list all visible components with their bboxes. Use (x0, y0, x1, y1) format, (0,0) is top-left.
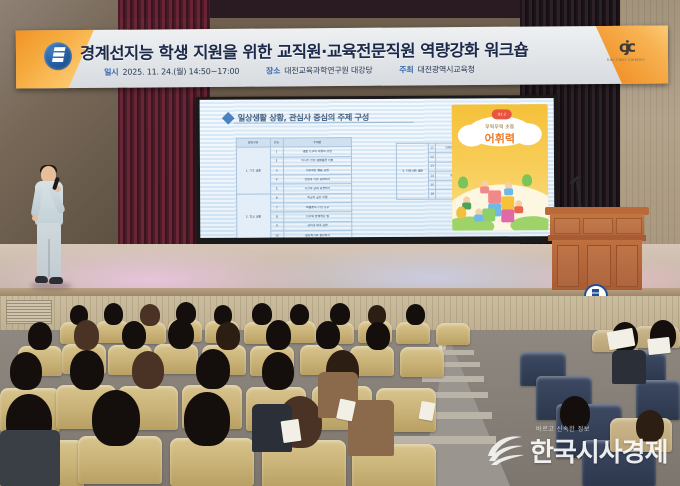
table-cell: 1 (270, 147, 283, 156)
photo-scene: 경계선지능 학생 지원을 위한 교직원·교육전문직원 역량강화 워크숍 일시20… (0, 0, 680, 486)
sponsor-logo-caption: Edu Class Creators (604, 58, 648, 62)
audience-seat (400, 347, 444, 377)
audience-head (104, 303, 123, 325)
audience-attendee-coat (0, 430, 60, 486)
audience-head (132, 351, 164, 389)
audience-head (28, 322, 52, 350)
audience-head (184, 392, 230, 446)
audience-head (168, 319, 194, 349)
watermark-name: 한국시사경제 (530, 432, 668, 469)
slide-table-header: 주제명 (283, 138, 351, 148)
table-cell: 6 (270, 194, 283, 203)
handout-paper (281, 419, 302, 443)
book-block (501, 196, 514, 209)
table-cell: 발표하기와 질문하기 (283, 231, 351, 238)
banner-date-value: 2025. 11. 24.(월) 14:50~17:00 (122, 67, 239, 77)
table-cell: 7 (270, 203, 283, 212)
sponsor-logo-mark: cjc (604, 38, 648, 56)
audience-head (10, 352, 42, 390)
table-cell: 학용품과 수업 도구 (283, 203, 351, 213)
daejeon-education-office-emblem-icon (44, 42, 72, 70)
table-cell: 13 (429, 162, 436, 171)
slide-table-header: 번호 (270, 138, 283, 147)
table-cell: 2 (270, 157, 283, 166)
book-block (501, 209, 514, 222)
book-cover-image: 초1·2 무럭무럭 초등 어휘력 (452, 104, 549, 231)
watermark: 바르고 신속한 정보 한국시사경제 (486, 424, 676, 472)
table-group-cell: 2. 학교 생활 (237, 194, 271, 238)
table-cell: 8 (270, 212, 283, 221)
table-cell: 기본적인 행동 표현 (283, 166, 351, 176)
banner-title: 경계선지능 학생 지원을 위한 교직원·교육전문직원 역량강화 워크숍 (80, 36, 600, 64)
wave-swirl-logo-icon (486, 432, 526, 466)
audience-head (262, 352, 294, 390)
slide-title-underline (234, 122, 414, 124)
book-tree (456, 207, 466, 219)
audience-head (92, 390, 140, 446)
audience-head (252, 303, 272, 325)
table-cell: 15 (429, 180, 436, 189)
book-badge: 초1·2 (492, 109, 512, 119)
banner-place-label: 장소 (266, 66, 280, 75)
book-title: 어휘력 (452, 130, 548, 147)
audience-head (406, 304, 425, 325)
table-cell: 14 (429, 171, 436, 180)
sponsor-logo: cjc Edu Class Creators (604, 38, 648, 62)
presenter-hand-left (32, 215, 38, 221)
table-group-cell: 3. 지역사회 생활 (396, 143, 428, 199)
book-child-figure (514, 200, 523, 213)
banner-host-value: 대전광역시교육청 (417, 65, 474, 74)
book-tree (458, 177, 468, 189)
handout-paper (647, 337, 671, 355)
presenter-legs (37, 223, 61, 277)
book-child-figure (474, 208, 483, 221)
audience-seat (396, 322, 430, 344)
table-cell: 학교의 공간 이름 (283, 193, 351, 203)
table-cell: 12 (429, 152, 436, 161)
wall-vent (6, 300, 52, 324)
presenter (32, 166, 66, 291)
table-group-cell: 1. 기초 생활 (236, 147, 270, 194)
presenter-shoe-left (35, 276, 48, 283)
table-cell: 11 (428, 143, 435, 152)
presenter-shoe-right (49, 277, 63, 284)
book-tree (522, 174, 532, 186)
audience-head (74, 320, 99, 350)
podium-upper (550, 214, 644, 236)
audience-attendee-coat (612, 350, 646, 384)
table-cell: 4 (270, 175, 283, 184)
table-cell: 규칙과 약속 표현 (283, 221, 351, 231)
banner-subtitle: 일시2025. 11. 24.(월) 14:50~17:00 장소대전교육과학연… (104, 63, 604, 78)
slide-table-header: 영역구분 (236, 138, 270, 147)
diamond-bullet-icon (222, 112, 235, 125)
table-cell: 의식주 관련 생활용품 어휘 (283, 156, 351, 166)
podium (548, 207, 646, 291)
banner-place-value: 대전교육과학연구원 대강당 (284, 66, 372, 76)
audience-head (140, 304, 160, 326)
book-block (482, 208, 495, 221)
book-grass-right (510, 216, 548, 231)
table-cell: 생활 도구의 이름과 쓰임 (283, 147, 351, 157)
banner-host-label: 주최 (399, 65, 413, 74)
projection-screen: 일상생활 상황, 관심사 중심의 주제 구성 영역구분번호주제명1. 기초 생활… (200, 98, 555, 238)
event-banner: 경계선지능 학생 지원을 위한 교직원·교육전문직원 역량강화 워크숍 일시20… (16, 25, 668, 88)
podium-lower (552, 240, 642, 290)
banner-date-label: 일시 (104, 68, 118, 77)
audience-head (266, 320, 291, 350)
book-child-figure (504, 182, 513, 195)
table-cell: 10 (270, 231, 283, 238)
table-cell: 5 (270, 184, 283, 193)
audience-head (290, 304, 309, 325)
table-cell: 9 (270, 222, 283, 231)
audience-head (216, 322, 240, 350)
audience-head (196, 349, 230, 389)
slide-table-left: 영역구분번호주제명1. 기초 생활1생활 도구의 이름과 쓰임2의식주 관련 생… (236, 137, 353, 238)
table-cell: 시간과 날짜 표현하기 (283, 184, 351, 194)
table-cell: 친구와 함께하는 말 (283, 212, 351, 222)
table-cell: 감정과 기분 표현하기 (283, 175, 351, 185)
table-cell: 16 (429, 190, 436, 199)
audience-head (366, 322, 390, 350)
book-block (488, 190, 501, 203)
book-child-figure (480, 180, 489, 193)
table-cell: 3 (270, 166, 283, 175)
audience-seat (436, 323, 470, 345)
aisle-step (392, 436, 496, 444)
projection-screen-frame: 일상생활 상황, 관심사 중심의 주제 구성 영역구분번호주제명1. 기초 생활… (196, 95, 559, 245)
audience-attendee-coat (348, 400, 394, 456)
audience-head (70, 350, 104, 390)
audience-head (122, 321, 146, 349)
audience-head (316, 321, 340, 349)
